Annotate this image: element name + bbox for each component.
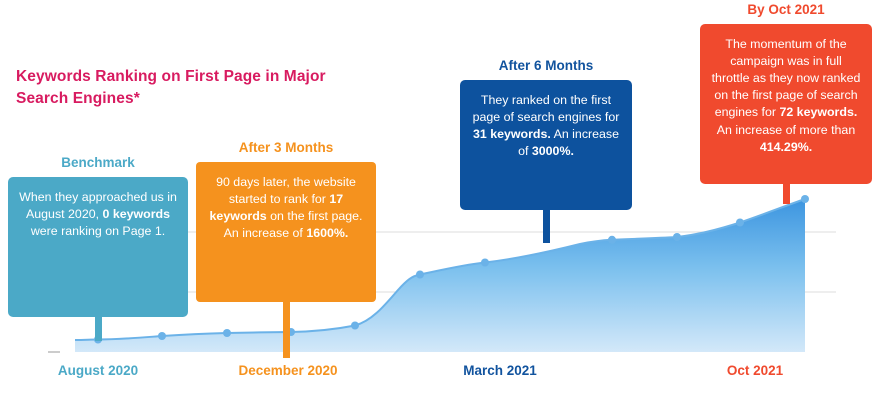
callout-after-6-months-label: After 6 Months	[460, 58, 632, 73]
callout-benchmark-stem	[95, 315, 102, 341]
callout-by-oct-2021-box[interactable]: The momentum of the campaign was in full…	[700, 24, 872, 184]
data-point	[351, 322, 359, 330]
callout-after-3-months-text: 90 days later, the website started to ra…	[206, 174, 366, 242]
data-point	[481, 259, 489, 267]
data-point	[736, 219, 744, 227]
callout-by-oct-2021-label: By Oct 2021	[700, 2, 872, 17]
callout-by-oct-2021-text: The momentum of the campaign was in full…	[710, 36, 862, 156]
axis-label-august-2020: August 2020	[28, 363, 168, 378]
data-point	[673, 233, 681, 241]
callout-after-6-months-box[interactable]: They ranked on the first page of search …	[460, 80, 632, 210]
data-point	[608, 236, 616, 244]
data-point	[416, 271, 424, 279]
callout-after-3-months-box[interactable]: 90 days later, the website started to ra…	[196, 162, 376, 302]
callout-by-oct-2021-stem	[783, 182, 790, 204]
callout-after-6-months-stem	[543, 208, 550, 243]
data-point	[801, 195, 809, 203]
axis-label-march-2021: March 2021	[430, 363, 570, 378]
infographic-canvas: Keywords Ranking on First Page in Major …	[0, 0, 882, 409]
callout-after-3-months-stem	[283, 300, 290, 358]
callout-benchmark-text: When they approached us in August 2020, …	[18, 189, 178, 240]
page-title: Keywords Ranking on First Page in Major …	[16, 66, 356, 111]
axis-label-december-2020: December 2020	[218, 363, 358, 378]
callout-after-6-months-text: They ranked on the first page of search …	[470, 92, 622, 160]
callout-after-3-months-label: After 3 Months	[196, 140, 376, 155]
axis-label-oct-2021: Oct 2021	[685, 363, 825, 378]
callout-benchmark-label: Benchmark	[8, 155, 188, 170]
data-point	[223, 329, 231, 337]
callout-benchmark-box[interactable]: When they approached us in August 2020, …	[8, 177, 188, 317]
data-point	[158, 332, 166, 340]
